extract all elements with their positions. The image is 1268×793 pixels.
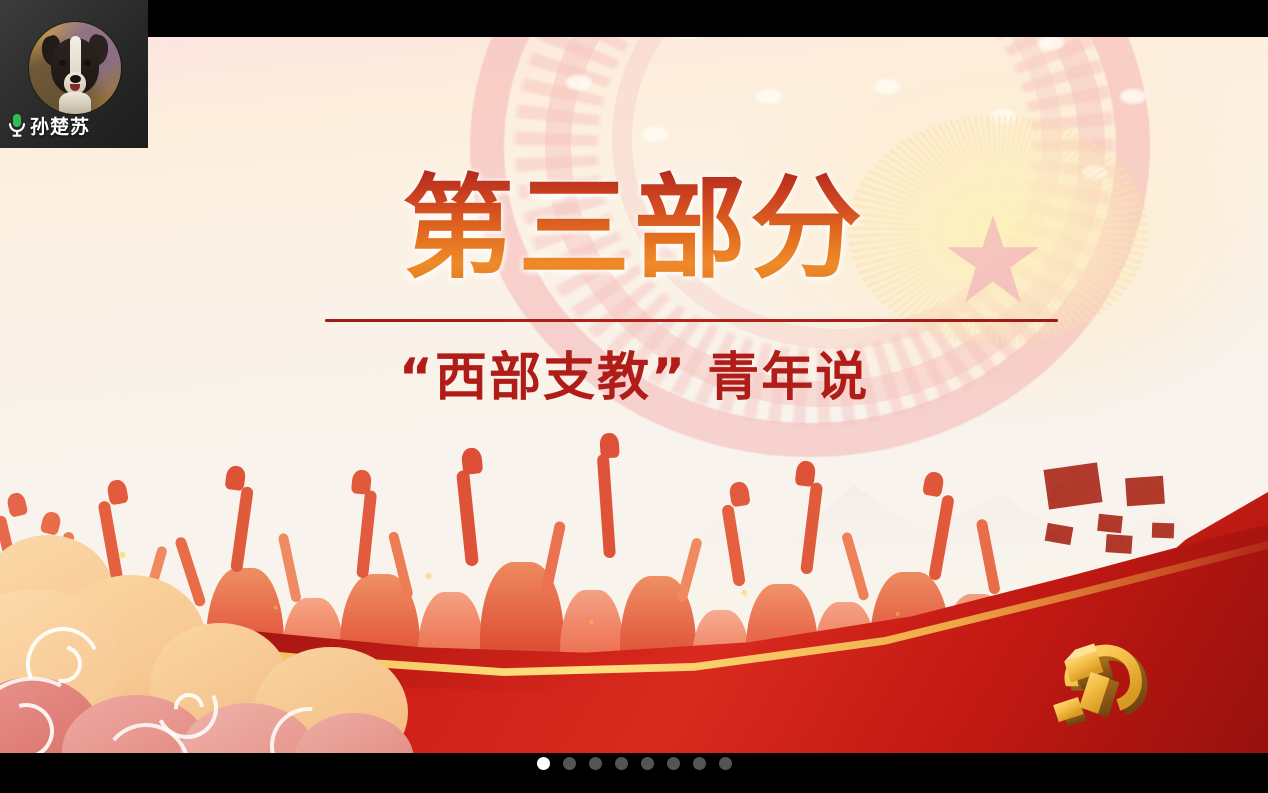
pagination-dot-7[interactable] [693, 757, 706, 770]
dog-avatar [29, 22, 121, 114]
pagination-dot-3[interactable] [589, 757, 602, 770]
pagination-dot-6[interactable] [667, 757, 680, 770]
presentation-window: 第三部分 “西部支教” 青年说 [0, 0, 1268, 793]
slide-canvas[interactable]: 第三部分 “西部支教” 青年说 [0, 37, 1268, 753]
slide-pagination[interactable] [0, 752, 1268, 774]
pagination-dot-4[interactable] [615, 757, 628, 770]
pagination-dot-2[interactable] [563, 757, 576, 770]
participant-label: 孙楚苏 [6, 110, 90, 140]
auspicious-clouds-icon [0, 527, 490, 753]
page-title: 第三部分 [0, 169, 1268, 290]
participant-name: 孙楚苏 [30, 112, 90, 139]
pagination-dot-1[interactable] [537, 757, 550, 770]
page-subtitle: “西部支教” 青年说 [0, 339, 1268, 417]
avatar [29, 22, 121, 114]
title-divider [325, 319, 1058, 322]
hammer-and-sickle-icon [1016, 633, 1176, 743]
pagination-dot-8[interactable] [719, 757, 732, 770]
letterbox-top [0, 0, 1268, 37]
pagination-dot-5[interactable] [641, 757, 654, 770]
microphone-icon[interactable] [6, 112, 28, 138]
webcam-pip-panel[interactable]: 孙楚苏 [0, 0, 148, 148]
